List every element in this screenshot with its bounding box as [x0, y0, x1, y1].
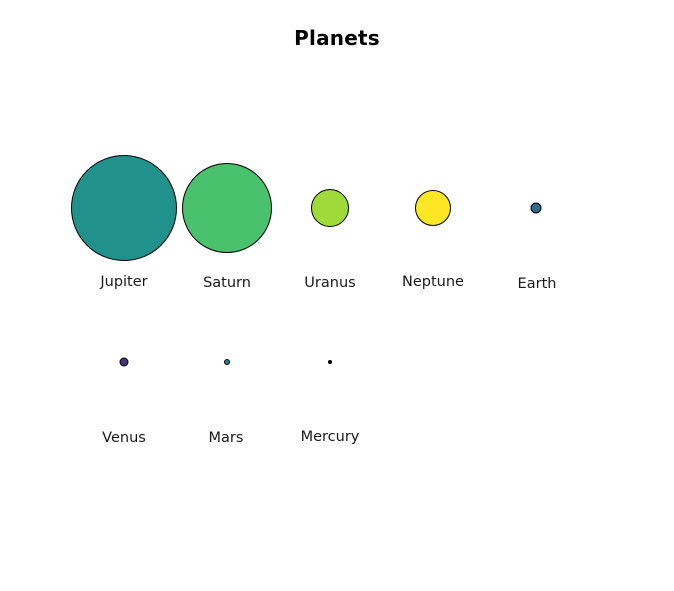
- planet-marker-venus[interactable]: [120, 358, 129, 367]
- planet-disc-mars: [224, 359, 230, 365]
- planet-marker-mars[interactable]: [224, 359, 230, 365]
- chart-title: Planets: [0, 26, 674, 50]
- planet-disc-earth: [531, 203, 542, 214]
- planet-label-mars: Mars: [209, 430, 244, 446]
- planet-disc-uranus: [311, 189, 349, 227]
- planet-label-uranus: Uranus: [304, 275, 355, 291]
- planet-marker-neptune[interactable]: [415, 190, 451, 226]
- planet-marker-jupiter[interactable]: [71, 155, 177, 261]
- planet-marker-saturn[interactable]: [182, 163, 272, 253]
- planet-disc-saturn: [182, 163, 272, 253]
- planet-marker-mercury[interactable]: [328, 360, 332, 364]
- planet-marker-earth[interactable]: [531, 203, 542, 214]
- planet-label-neptune: Neptune: [402, 274, 464, 290]
- planet-label-saturn: Saturn: [203, 275, 251, 291]
- planets-figure: Planets JupiterSaturnUranusNeptuneEarthV…: [0, 0, 674, 591]
- planet-label-mercury: Mercury: [301, 429, 360, 445]
- planet-disc-venus: [120, 358, 129, 367]
- planet-label-earth: Earth: [518, 276, 557, 292]
- planet-label-jupiter: Jupiter: [100, 274, 147, 290]
- planet-disc-mercury: [328, 360, 332, 364]
- planet-disc-neptune: [415, 190, 451, 226]
- planet-disc-jupiter: [71, 155, 177, 261]
- planet-marker-uranus[interactable]: [311, 189, 349, 227]
- planet-label-venus: Venus: [102, 430, 146, 446]
